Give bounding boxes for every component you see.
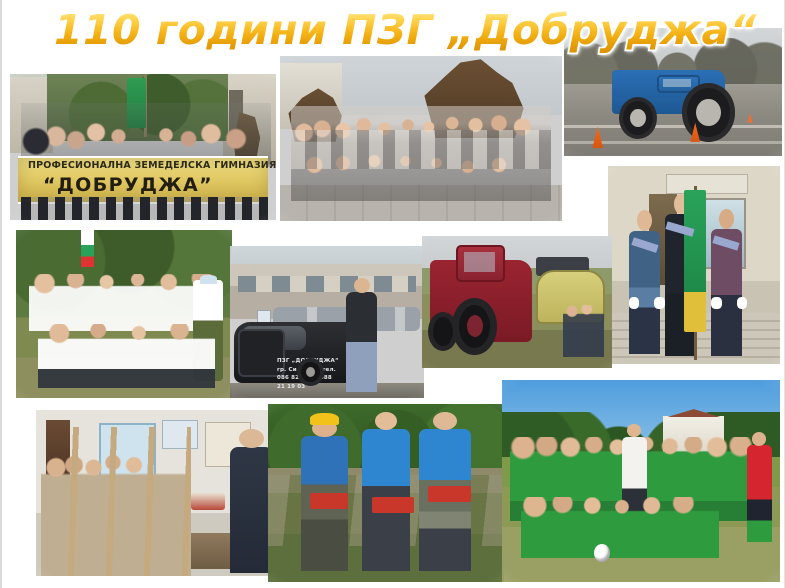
student-driver: [346, 292, 377, 392]
scene-football-team: [502, 380, 780, 582]
photo-flag-bearers[interactable]: Знаменосци със зеленото знаме пред входа: [608, 166, 780, 364]
lane-marking-far: [564, 125, 782, 128]
tractor-body: [430, 260, 533, 342]
group-of-people: [291, 106, 550, 202]
legs-row: [21, 197, 268, 220]
photo-students-white-shirts[interactable]: Ученици с бели тениски на открито: [16, 230, 232, 398]
seated-row: [38, 324, 215, 388]
head: [239, 429, 263, 448]
scene-students-outdoors: [16, 230, 232, 398]
front-wheel: [428, 312, 459, 351]
tractor-cab: [456, 245, 505, 282]
banner-line-2: “ДОБРУДЖА”: [43, 174, 258, 196]
head: [637, 210, 652, 231]
white-glove-4: [737, 297, 747, 309]
photo-group-at-monument[interactable]: Групова снимка пред паметник: [280, 56, 562, 221]
scene-garden-work: [268, 404, 504, 582]
goalkeeper-in-red: [747, 445, 772, 542]
gift-bread: [191, 493, 225, 510]
scene-koledari: [36, 410, 278, 576]
green-school-flag: [684, 190, 706, 333]
photo-students-with-tools[interactable]: Ученици с работни инструменти в градинат…: [268, 404, 504, 582]
scene-driving-school: ПЗГ „ДОБРУДЖА“ гр. Силистра тел. 086 82 …: [230, 246, 424, 398]
cap: [200, 275, 217, 283]
tool-3: [428, 486, 470, 502]
photo-red-tractor-baler[interactable]: Червен трактор с балировачка на полето: [422, 236, 612, 368]
tractor-rear-wheel: [682, 83, 736, 142]
white-glove-3: [711, 297, 721, 309]
page-title: 110 години ПЗГ „Добруджа“: [54, 6, 757, 54]
scene-flag-bearers: [608, 166, 780, 364]
tool-1: [310, 493, 348, 509]
head: [354, 278, 370, 293]
entrance-sign: [666, 174, 747, 194]
photo-driving-school-car[interactable]: ПЗГ „ДОБРУДЖА“ гр. Силистра тел. 086 82 …: [230, 246, 424, 398]
people-beside-machine: [563, 305, 605, 358]
poster-canvas: ПРОФЕСИОНАЛНА ЗЕМЕДЕЛСКА ГИМНАЗИЯ “ДОБРУ…: [0, 0, 785, 588]
scene-red-tractor: [422, 236, 612, 368]
yellow-cap-icon: [310, 413, 338, 425]
head: [752, 432, 766, 446]
banner-line-1: ПРОФЕСИОНАЛНА ЗЕМЕДЕЛСКА ГИМНАЗИЯ: [28, 160, 258, 171]
white-glove-1: [629, 297, 639, 309]
host-receiving-gift: [230, 447, 274, 573]
kneeling-players-row: [521, 497, 718, 558]
wooden-staffs: [41, 427, 191, 576]
photo-koledari-ceremony[interactable]: Коледари в народни носии с гегите: [36, 410, 278, 576]
football-ball-icon: [594, 544, 611, 562]
car-wheel: [297, 358, 324, 387]
tractor-front-wheel: [619, 97, 658, 140]
tool-2: [372, 497, 414, 513]
white-glove-2: [654, 297, 664, 309]
photo-students-with-school-banner[interactable]: ПРОФЕСИОНАЛНА ЗЕМЕДЕЛСКА ГИМНАЗИЯ “ДОБРУ…: [10, 74, 276, 220]
scene-banner-march: ПРОФЕСИОНАЛНА ЗЕМЕДЕЛСКА ГИМНАЗИЯ “ДОБРУ…: [10, 74, 276, 220]
rear-wheel: [452, 298, 497, 355]
photo-football-team[interactable]: Футболният отбор в зелени екипи с треньо…: [502, 380, 780, 582]
title-band: 110 години ПЗГ „Добруджа“ 110 години ПЗГ…: [2, 0, 785, 62]
scene-monument-group: [280, 56, 562, 221]
bulgarian-flag: [81, 230, 94, 267]
